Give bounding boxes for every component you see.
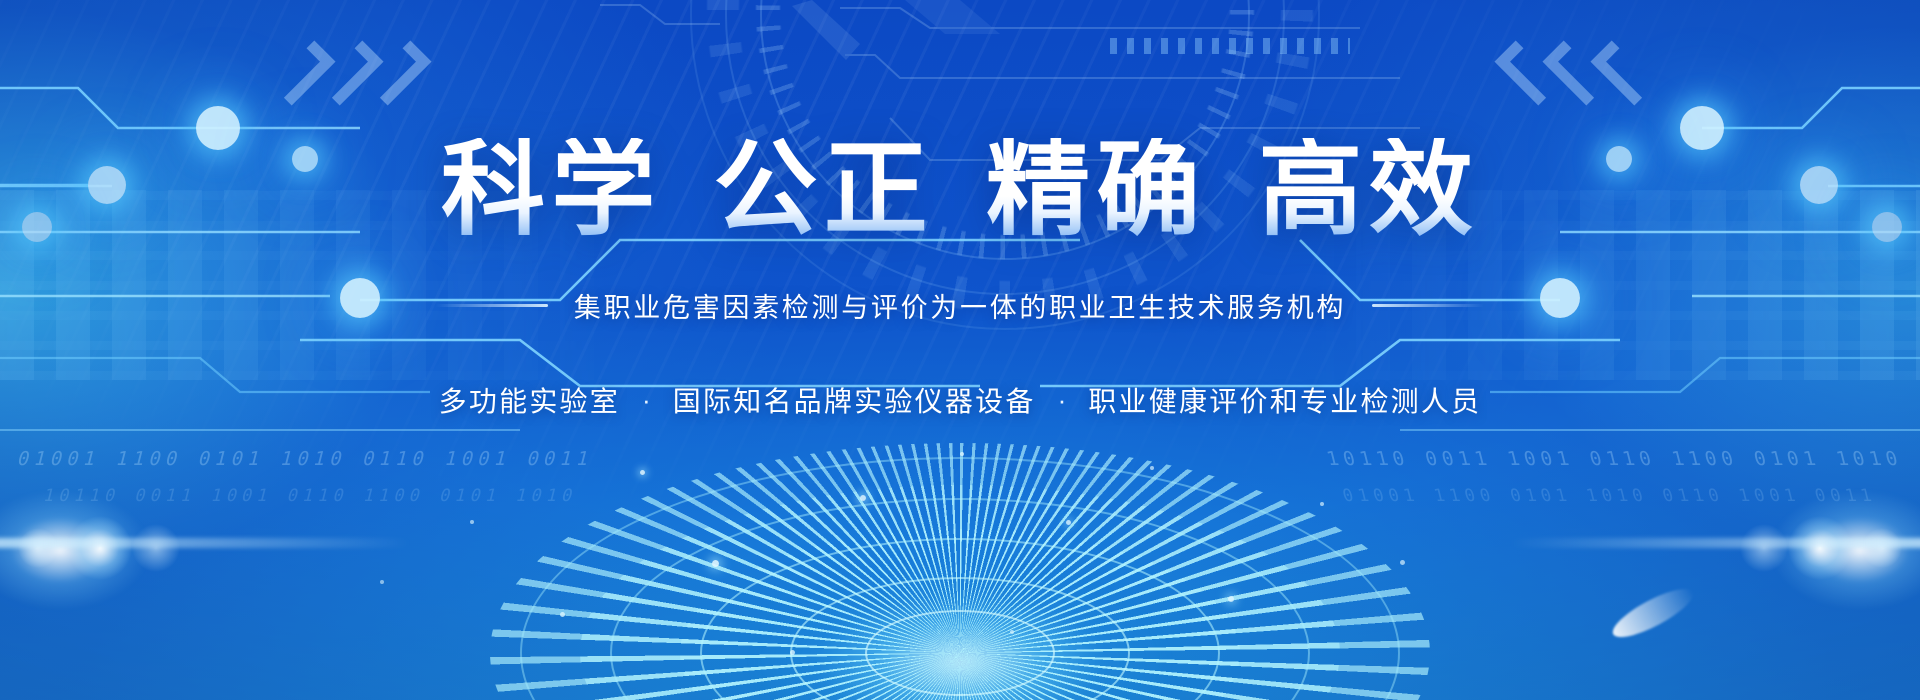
subtitle-rule-right xyxy=(1372,304,1484,307)
headline-word-3: 精确 xyxy=(986,132,1206,248)
hero-banner: 01001 1100 0101 1010 0110 1001 0011 1011… xyxy=(0,0,1920,700)
banner-subtitle: 集职业危害因素检测与评价为一体的职业卫生技术服务机构 xyxy=(574,286,1346,325)
feature-separator-1: · xyxy=(642,387,651,413)
subtitle-rule-left xyxy=(436,304,548,307)
headline-word-4: 高效 xyxy=(1258,132,1478,248)
feature-item-1: 多功能实验室 xyxy=(439,380,620,420)
feature-list: 多功能实验室 · 国际知名品牌实验仪器设备 · 职业健康评价和专业检测人员 xyxy=(439,380,1482,420)
subtitle-row: 集职业危害因素检测与评价为一体的职业卫生技术服务机构 xyxy=(436,286,1484,325)
page-title: 科学公正精确高效 xyxy=(441,138,1479,242)
feature-item-3: 职业健康评价和专业检测人员 xyxy=(1088,380,1481,420)
banner-content: 科学公正精确高效 集职业危害因素检测与评价为一体的职业卫生技术服务机构 多功能实… xyxy=(0,0,1920,700)
feature-separator-2: · xyxy=(1058,387,1067,413)
headline-word-1: 科学 xyxy=(441,132,661,248)
feature-item-2: 国际知名品牌实验仪器设备 xyxy=(673,380,1036,420)
headline-word-2: 公正 xyxy=(714,132,934,248)
